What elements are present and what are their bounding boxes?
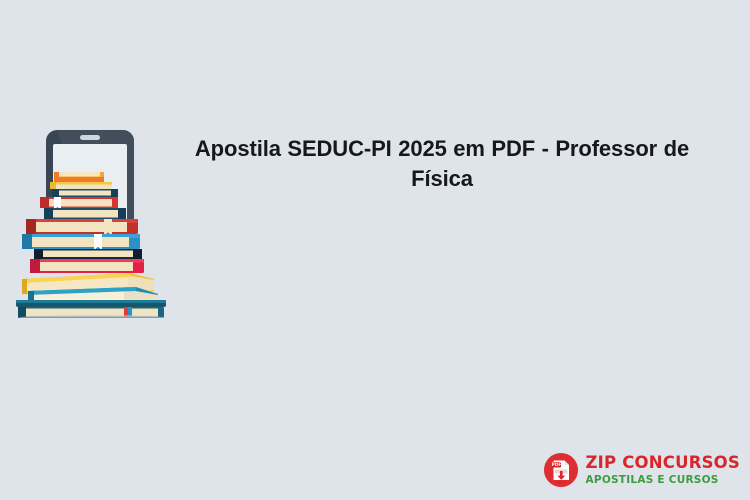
book-teal-large — [22, 234, 140, 250]
books-tablet-illustration — [8, 128, 173, 318]
pdf-download-icon: PDF — [543, 452, 579, 488]
page-title: Apostila SEDUC-PI 2025 em PDF - Professo… — [168, 134, 716, 194]
book-darknavy-thin — [34, 249, 142, 259]
brand-tagline: APOSTILAS E CURSOS — [586, 475, 741, 486]
title-block: Apostila SEDUC-PI 2025 em PDF - Professo… — [168, 134, 716, 194]
brand-logo[interactable]: PDF ZIP CONCURSOS APOSTILAS E CURSOS — [543, 452, 741, 488]
svg-text:PDF: PDF — [551, 462, 561, 467]
book-darkred-large — [26, 219, 138, 236]
book-navy-mid — [44, 208, 126, 219]
brand-name: ZIP CONCURSOS — [586, 455, 741, 472]
book-orange-top — [54, 172, 104, 182]
book-navy-upper — [52, 189, 118, 197]
book-crimson — [30, 259, 144, 273]
book-cream-upper — [50, 182, 112, 189]
page-canvas: Apostila SEDUC-PI 2025 em PDF - Professo… — [0, 0, 750, 500]
brand-text: ZIP CONCURSOS APOSTILAS E CURSOS — [586, 455, 741, 485]
